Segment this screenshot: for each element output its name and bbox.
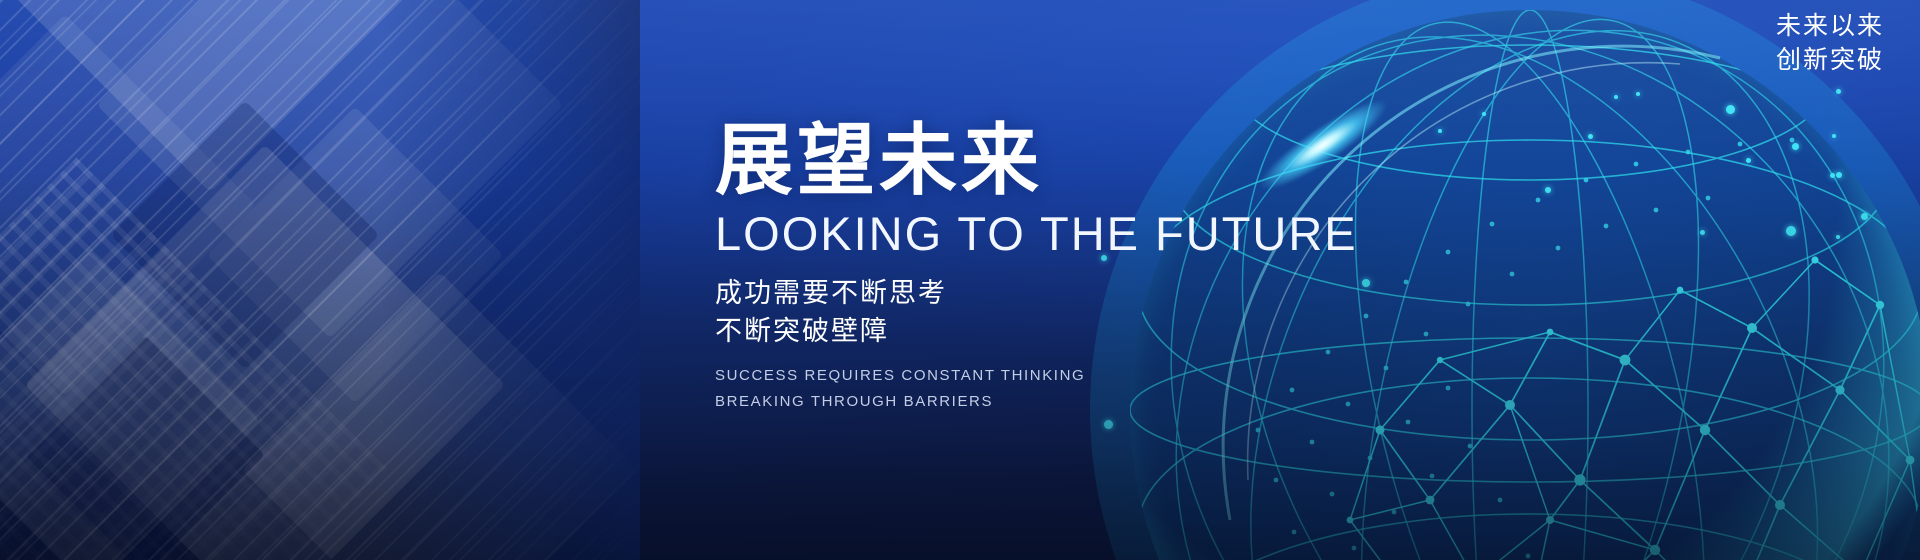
particle <box>1588 134 1593 139</box>
banner: 展望未来 LOOKING TO THE FUTURE 成功需要不断思考 不断突破… <box>0 0 1920 560</box>
subtitle-chinese-line-1: 成功需要不断思考 <box>715 274 1435 312</box>
headline-block: 展望未来 LOOKING TO THE FUTURE 成功需要不断思考 不断突破… <box>715 118 1435 415</box>
particle <box>1104 420 1113 429</box>
subtitle-english-line-2: BREAKING THROUGH BARRIERS <box>715 389 1435 415</box>
particle <box>1836 172 1842 178</box>
particle <box>1836 235 1840 239</box>
corner-slogan-line-1: 未来以来 <box>1776 10 1884 44</box>
particle <box>1614 95 1618 99</box>
corner-slogan-line-2: 创新突破 <box>1776 44 1884 78</box>
particle <box>1832 134 1836 138</box>
particle <box>1792 143 1799 150</box>
particle <box>1786 226 1796 236</box>
title-chinese: 展望未来 <box>715 118 1435 202</box>
particle <box>1830 173 1835 178</box>
particle <box>1482 112 1486 116</box>
subtitle-english: SUCCESS REQUIRES CONSTANT THINKING BREAK… <box>715 363 1435 416</box>
particle <box>1438 129 1442 133</box>
title-english: LOOKING TO THE FUTURE <box>715 208 1435 260</box>
corner-slogan: 未来以来 创新突破 <box>1776 10 1884 78</box>
particle <box>1746 158 1751 163</box>
left-art-fade <box>380 0 640 560</box>
particle <box>1726 105 1735 114</box>
subtitle-chinese-line-2: 不断突破壁障 <box>715 312 1435 350</box>
particle <box>1861 213 1868 220</box>
subtitle-english-line-1: SUCCESS REQUIRES CONSTANT THINKING <box>715 363 1435 389</box>
left-geometric-pattern <box>0 0 640 560</box>
particle <box>1836 89 1841 94</box>
particle <box>1545 187 1551 193</box>
particle <box>1636 92 1640 96</box>
subtitle-chinese: 成功需要不断思考 不断突破壁障 <box>715 274 1435 351</box>
particle <box>1700 230 1705 235</box>
